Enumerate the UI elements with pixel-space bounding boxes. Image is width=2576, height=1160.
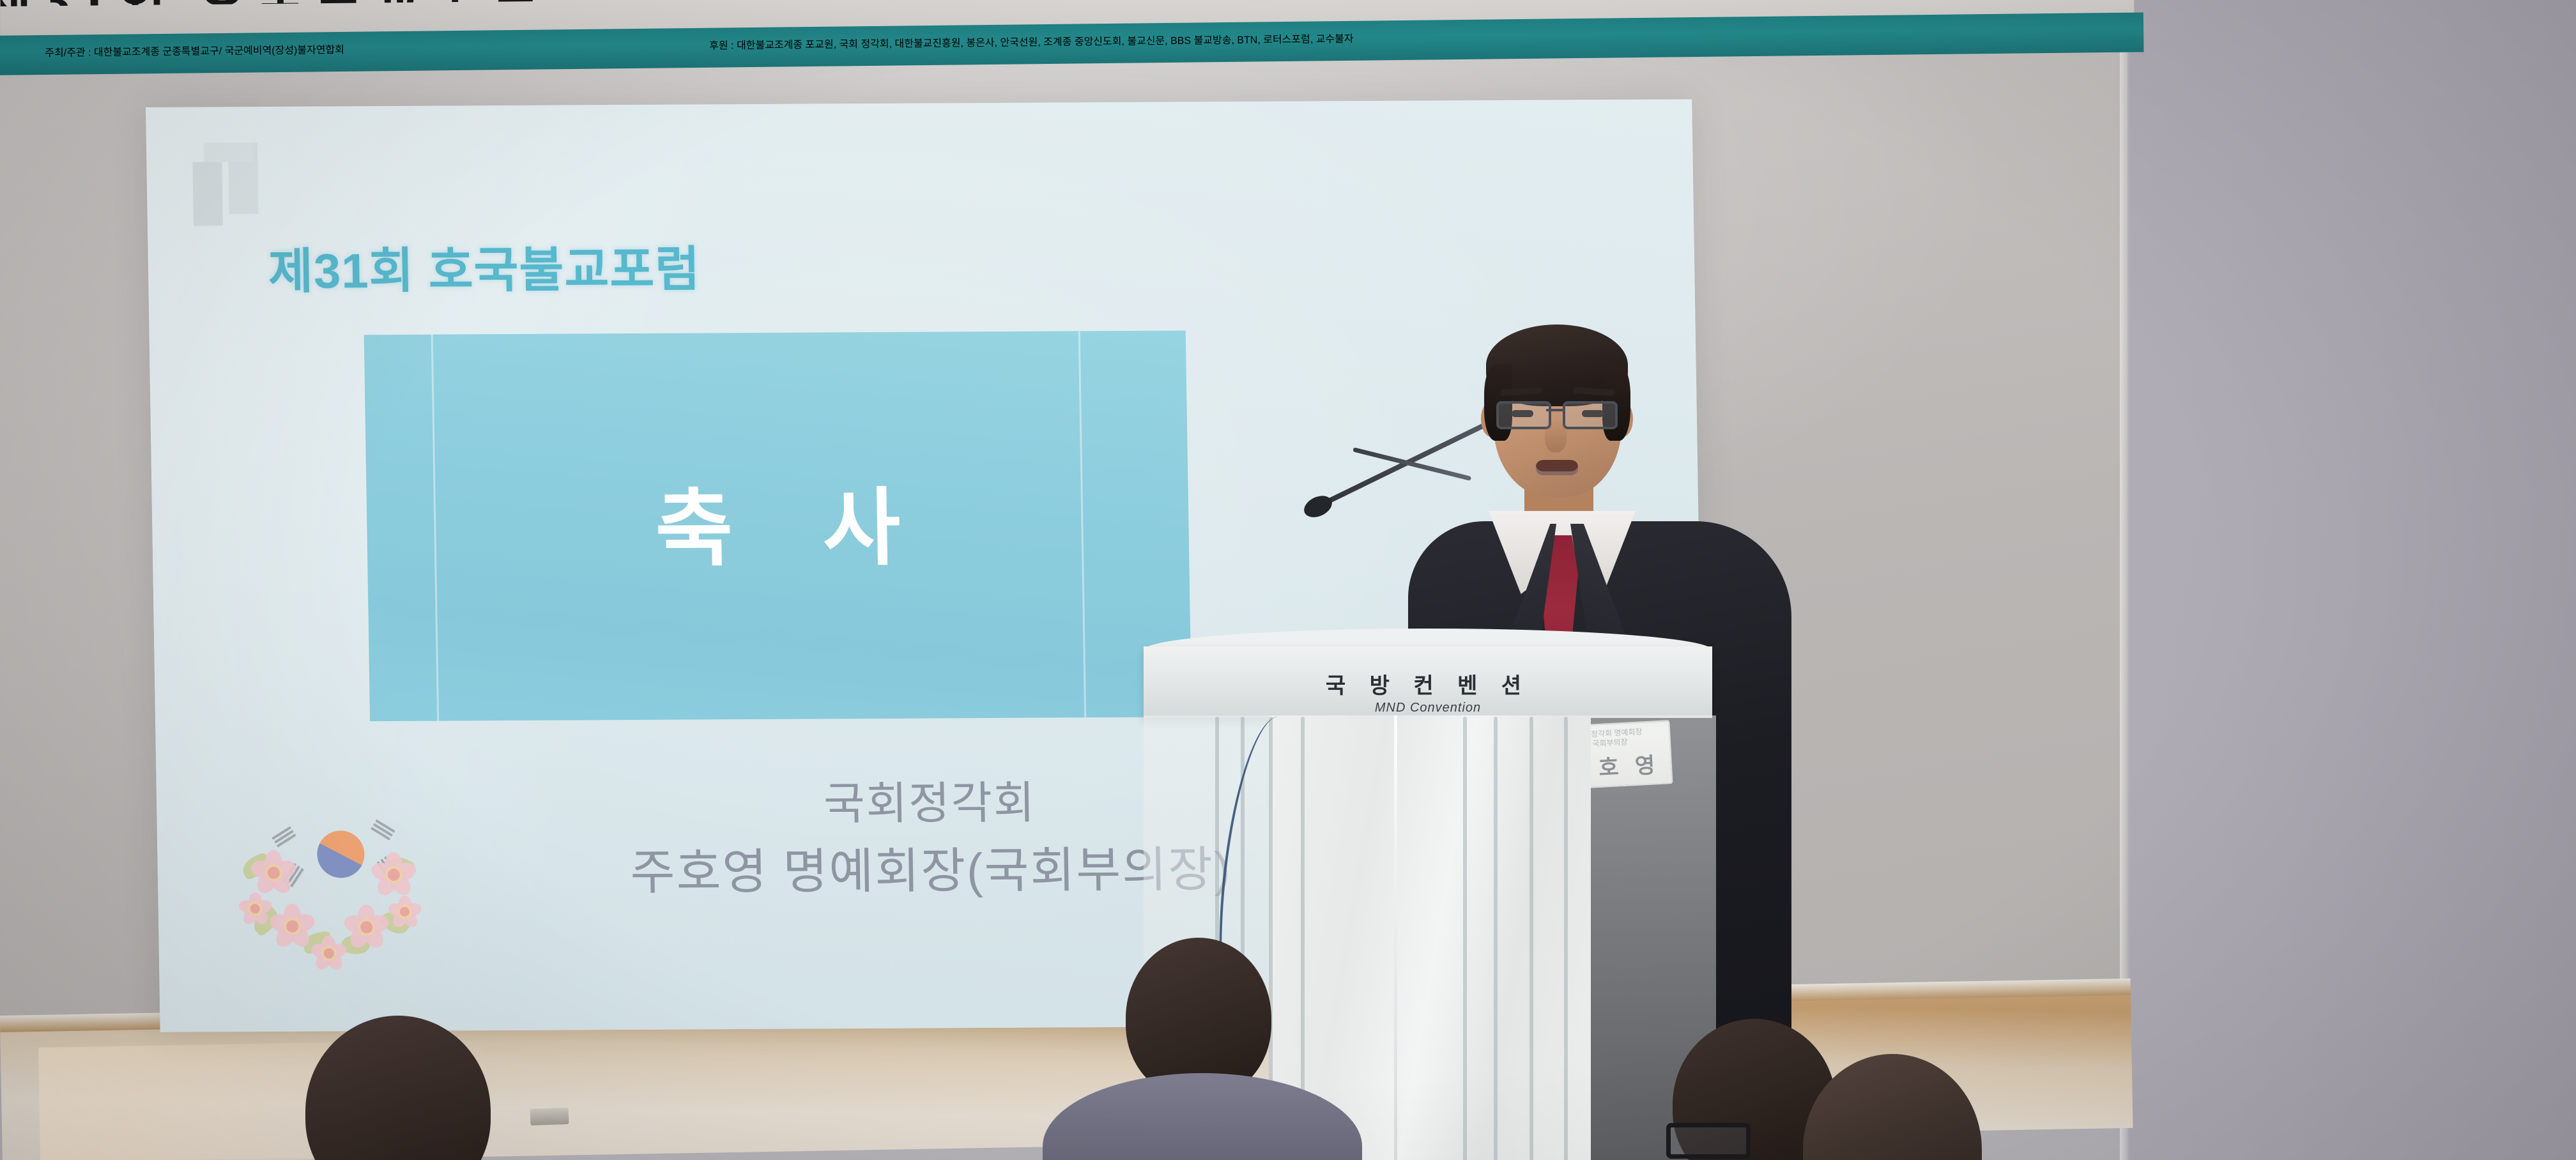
taegeuk-icon bbox=[317, 830, 365, 878]
audience-head bbox=[1126, 938, 1271, 1099]
slide-accent-box: 축 사 bbox=[364, 330, 1192, 721]
lectern-top-panel: 국 방 컨 벤 션 MND Convention bbox=[1144, 646, 1712, 718]
banner-sponsor-text: 후원 : 대한불교조계종 포교원, 국회 정각회, 대한불교진흥원, 봉은사, … bbox=[709, 30, 1354, 52]
speaker-mouth bbox=[1536, 460, 1578, 475]
banner-host-text: 주최/주관 : 대한불교조계종 군종특별교구/ 국군예비역(장성)불자연합회 bbox=[45, 41, 344, 59]
slide-title: 제31회 호국불교포럼 bbox=[268, 229, 701, 302]
slide-logo-icon bbox=[192, 142, 270, 226]
right-wall-panel bbox=[2127, 0, 2576, 1160]
lectern-body bbox=[1269, 715, 1591, 1160]
lectern-sign-korean: 국 방 컨 벤 션 bbox=[1144, 668, 1712, 699]
floor-outlet-plate bbox=[530, 1108, 569, 1126]
conference-photo-scene: 제31회 호국불교포럼 주최/주관 : 대한불교조계종 군종특별교구/ 국군예비… bbox=[0, 0, 2576, 1160]
slide-headline: 축 사 bbox=[366, 458, 1190, 584]
audience-eyeglasses-icon bbox=[1666, 1123, 1751, 1159]
lectern-sign: 국 방 컨 벤 션 MND Convention bbox=[1144, 668, 1712, 715]
lectern-center-edge bbox=[1394, 715, 1397, 1160]
taegeuk-flower-emblem-icon bbox=[227, 820, 441, 1007]
speaker-nose bbox=[1545, 419, 1567, 452]
lectern-sign-english: MND Convention bbox=[1144, 701, 1712, 715]
